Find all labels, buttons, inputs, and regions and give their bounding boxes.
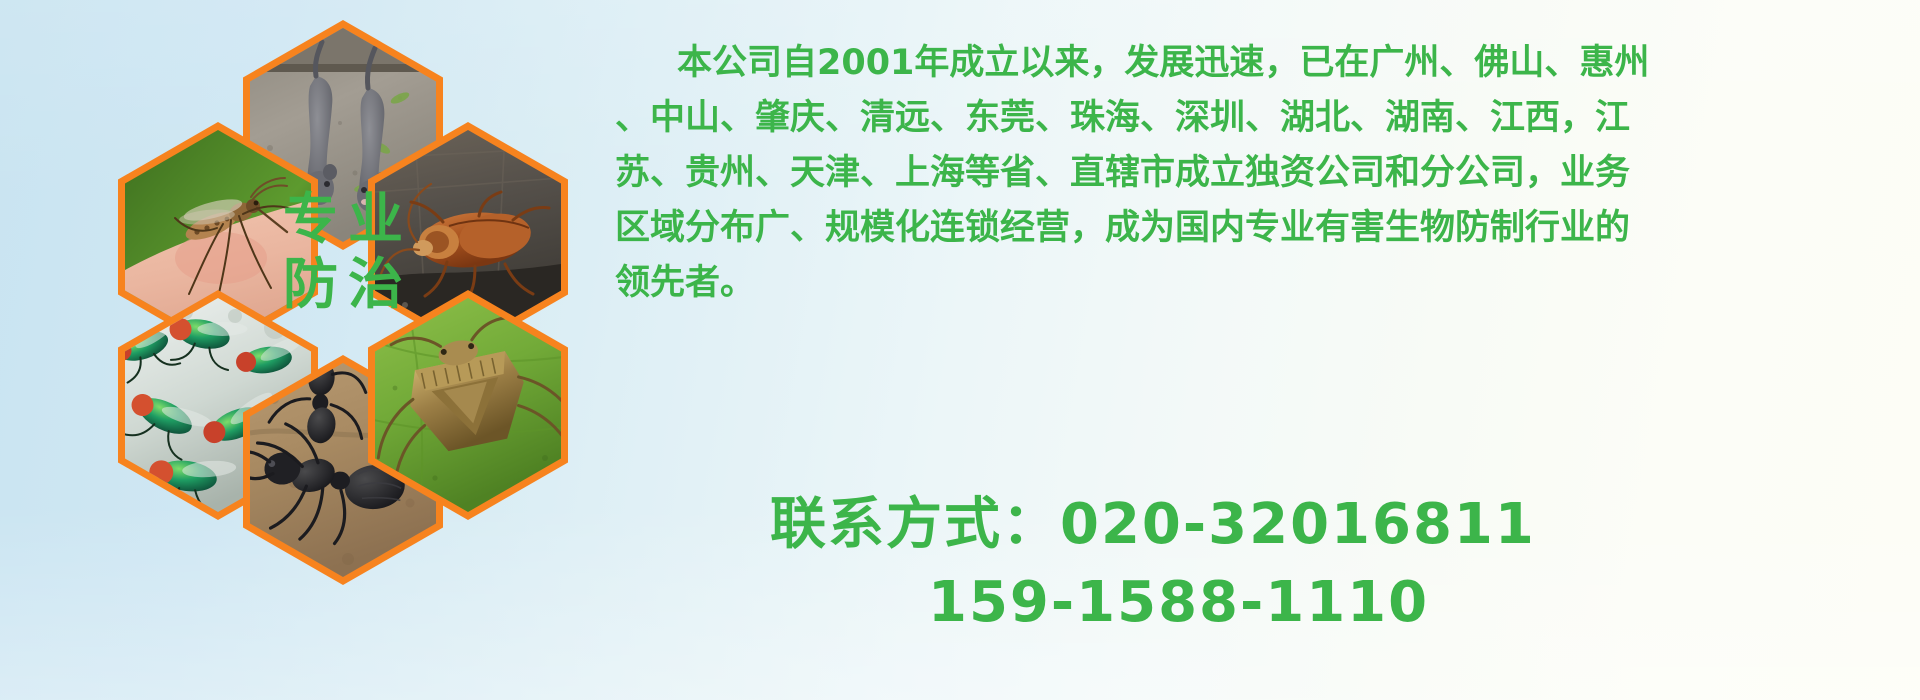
description-line-2: 、中山、肇庆、清远、东莞、珠海、深圳、湖北、湖南、江西，江 (615, 91, 1915, 146)
contact-phone-landline[interactable]: 联系方式：020-32016811 (770, 486, 1536, 564)
hexagon-photo-cluster: 专业 防治 (0, 0, 600, 580)
center-slogan: 专业 防治 (243, 137, 443, 367)
description-line-4: 区域分布广、规模化连锁经营，成为国内专业有害生物防制行业的 (615, 201, 1915, 256)
contact-info: 联系方式：020-32016811 159-1588-1110 (770, 486, 1536, 642)
contact-phone-mobile[interactable]: 159-1588-1110 (770, 564, 1536, 642)
description-line-1: 本公司自2001年成立以来，发展迅速，已在广州、佛山、惠州 (615, 36, 1915, 91)
description-line-5: 领先者。 (615, 256, 1915, 311)
center-slogan-line-1: 专业 (273, 187, 413, 252)
company-description: 本公司自2001年成立以来，发展迅速，已在广州、佛山、惠州 、中山、肇庆、清远、… (615, 36, 1915, 311)
pest-control-banner: 专业 防治 本公司自2001年成立以来，发展迅速，已在广州、佛山、惠州 、中山、… (0, 0, 1920, 700)
center-slogan-line-2: 防治 (273, 252, 413, 317)
description-line-3: 苏、贵州、天津、上海等省、直辖市成立独资公司和分公司，业务 (615, 146, 1915, 201)
